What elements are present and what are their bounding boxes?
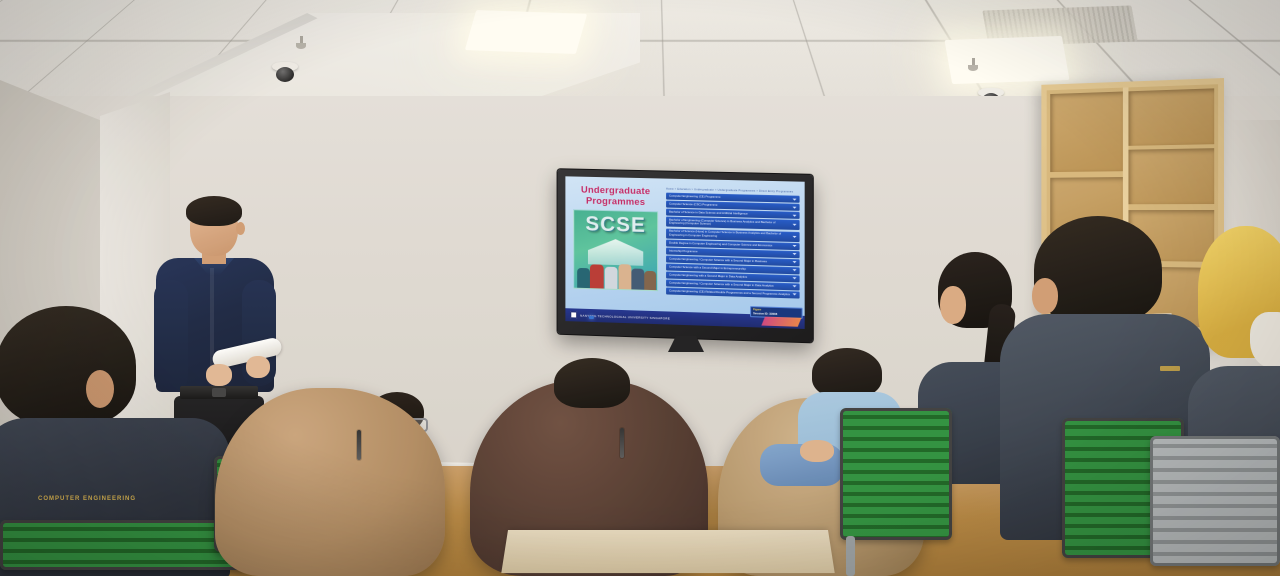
slide-title-line-2: Programmes: [581, 196, 650, 209]
students-photo: [574, 258, 657, 290]
bean-bag-chair[interactable]: [215, 388, 445, 576]
scse-logo-card: SCSE: [573, 209, 658, 291]
grey-chair[interactable]: [1150, 436, 1280, 576]
scse-logo-text: SCSE: [574, 212, 657, 238]
wooden-table[interactable]: [501, 530, 834, 573]
ceiling-light-panel-2: [944, 36, 1069, 84]
shirt-badge: [1160, 366, 1180, 371]
sprinkler-icon-2: [968, 58, 978, 72]
green-chair[interactable]: [840, 408, 960, 558]
wall-mounted-tv[interactable]: Undergraduate Programmes SCSE: [558, 169, 813, 342]
ceiling-light-panel-1: [465, 10, 587, 54]
security-camera-icon-1: [272, 62, 298, 84]
presentation-slide: Undergraduate Programmes SCSE: [565, 176, 804, 329]
slide-title: Undergraduate Programmes: [581, 185, 650, 209]
tv-screen: Undergraduate Programmes SCSE: [565, 176, 804, 329]
audience-member: [548, 358, 638, 418]
tv-power-led-icon: [589, 316, 594, 319]
sprinkler-icon-1: [296, 36, 306, 50]
zipper: [357, 430, 361, 460]
zipper: [620, 428, 624, 458]
programme-list: Home > Education > Undergraduate > Under…: [666, 185, 800, 316]
green-chair[interactable]: [0, 520, 250, 576]
ntu-logo-icon: [570, 311, 577, 318]
badge-line-2: Session ID: 33008: [753, 311, 799, 317]
shirt-embroidery-text: COMPUTER ENGINEERING: [38, 496, 126, 503]
classroom-photo: Undergraduate Programmes SCSE: [0, 0, 1280, 576]
footer-accent: [761, 317, 801, 327]
face-mask-icon: [1250, 312, 1280, 368]
